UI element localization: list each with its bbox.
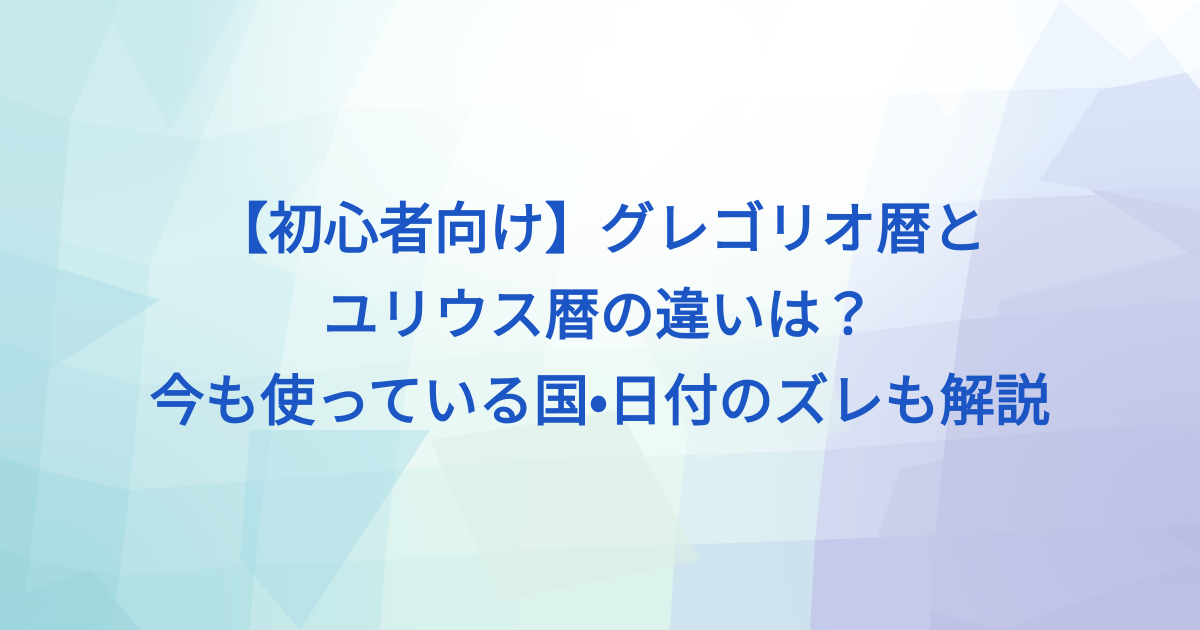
title-line-2: ユリウス暦の違いは？ xyxy=(324,272,877,358)
title-line-3: 今も使っている国・日付のズレも解説 xyxy=(150,358,1051,444)
title-block: 【初心者向け】グレゴリオ暦と ユリウス暦の違いは？ 今も使っている国・日付のズレ… xyxy=(0,0,1200,630)
ogp-card: 【初心者向け】グレゴリオ暦と ユリウス暦の違いは？ 今も使っている国・日付のズレ… xyxy=(0,0,1200,630)
title-line-1: 【初心者向け】グレゴリオ暦と xyxy=(213,186,987,272)
